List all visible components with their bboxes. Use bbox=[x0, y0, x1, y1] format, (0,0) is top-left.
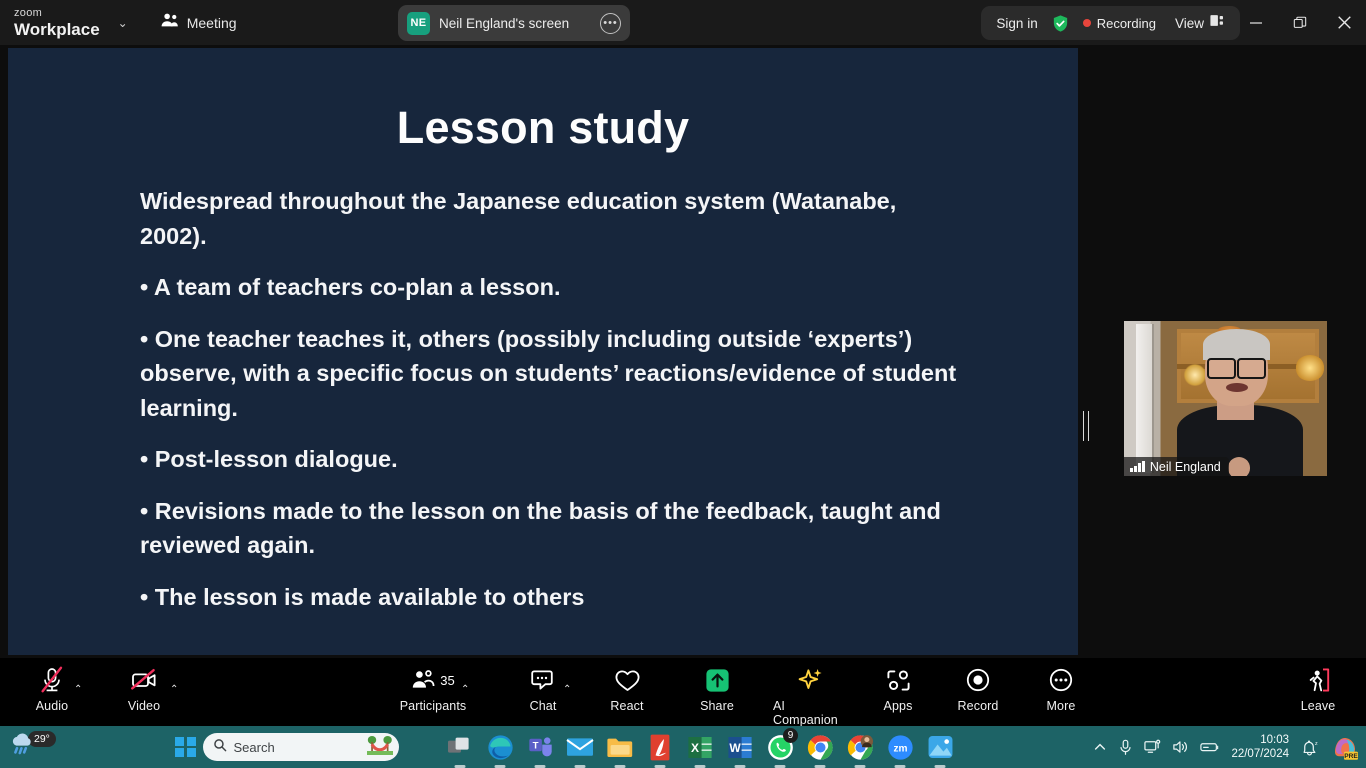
search-icon bbox=[213, 738, 227, 757]
word-icon[interactable]: W bbox=[725, 732, 755, 762]
video-person-glasses bbox=[1207, 358, 1266, 375]
svg-text:zm: zm bbox=[893, 743, 907, 754]
toolbar-label-share: Share bbox=[700, 699, 734, 713]
toolbar-button-leave[interactable]: Leave bbox=[1280, 664, 1356, 713]
svg-text:W: W bbox=[729, 741, 741, 755]
taskbar-clock[interactable]: 10:03 22/07/2024 bbox=[1231, 733, 1289, 762]
excel-icon[interactable]: X bbox=[685, 732, 715, 762]
shared-screen-label: Neil England's screen bbox=[439, 16, 591, 31]
shared-screen-stage: Lesson study Widespread throughout the J… bbox=[0, 45, 1366, 658]
whatsapp-icon[interactable]: 9 bbox=[765, 732, 795, 762]
chat-bubble-icon bbox=[530, 664, 556, 696]
slide-bullet: • One teacher teaches it, others (possib… bbox=[140, 322, 960, 426]
self-video-thumbnail[interactable]: Neil England bbox=[1124, 321, 1327, 476]
zoom-title-bar: zoom Workplace ⌄ Meeting NE Neil England… bbox=[0, 0, 1366, 45]
weather-widget[interactable]: 29° bbox=[8, 729, 56, 759]
chrome-icon[interactable] bbox=[805, 732, 835, 762]
recording-dot-icon bbox=[1083, 19, 1091, 27]
toolbar-button-ai-companion[interactable]: AI Companion bbox=[773, 664, 849, 727]
shared-screen-tab[interactable]: NE Neil England's screen ••• bbox=[398, 5, 630, 41]
video-door bbox=[1136, 324, 1154, 473]
rain-cloud-icon bbox=[8, 729, 38, 759]
toolbar-button-react[interactable]: React bbox=[589, 664, 665, 713]
speaker-icon[interactable] bbox=[1172, 739, 1189, 755]
toolbar-button-participants[interactable]: 35 ⌃ Participants bbox=[395, 664, 471, 713]
participants-count: 35 bbox=[440, 673, 454, 688]
windows-start-icon[interactable] bbox=[175, 737, 196, 758]
chrome-profile-icon[interactable] bbox=[845, 732, 875, 762]
participant-name-badge: Neil England bbox=[1124, 457, 1229, 476]
view-label: View bbox=[1175, 16, 1204, 31]
slide-title: Lesson study bbox=[8, 102, 1078, 154]
chevron-up-icon[interactable] bbox=[1093, 740, 1107, 754]
edge-icon[interactable] bbox=[485, 732, 515, 762]
close-icon[interactable] bbox=[1322, 0, 1366, 45]
chevron-down-icon[interactable]: ⌄ bbox=[118, 16, 128, 30]
toolbar-button-record[interactable]: Record bbox=[940, 664, 1016, 713]
pdf-icon[interactable] bbox=[645, 732, 675, 762]
svg-text:T: T bbox=[532, 741, 538, 752]
participant-name: Neil England bbox=[1150, 460, 1221, 474]
toolbar-button-chat[interactable]: ⌃ Chat bbox=[505, 664, 581, 713]
slide-body: Widespread throughout the Japanese educa… bbox=[8, 184, 1078, 614]
chat-options-chevron-icon[interactable]: ⌃ bbox=[563, 684, 571, 695]
system-tray: 10:03 22/07/2024 z PRE bbox=[1093, 726, 1360, 768]
toolbar-label-react: React bbox=[610, 699, 643, 713]
heart-icon bbox=[614, 664, 641, 696]
toolbar-label-apps: Apps bbox=[884, 699, 913, 713]
toolbar-label-leave: Leave bbox=[1301, 699, 1336, 713]
share-screen-icon bbox=[704, 664, 731, 696]
video-person-hand bbox=[1228, 457, 1250, 476]
hammock-icon bbox=[367, 734, 393, 761]
toolbar-button-audio[interactable]: ⌃ Audio bbox=[14, 664, 90, 713]
task-view-icon[interactable] bbox=[445, 732, 475, 762]
sign-in-button[interactable]: Sign in bbox=[996, 16, 1037, 31]
copilot-pre-icon[interactable]: PRE bbox=[1330, 732, 1360, 762]
shield-check-icon[interactable] bbox=[1051, 14, 1070, 33]
svg-text:z: z bbox=[1315, 740, 1318, 746]
camera-off-icon bbox=[129, 664, 159, 696]
taskbar-app-icons: T bbox=[445, 726, 955, 768]
brand-workplace-text: Workplace bbox=[14, 21, 100, 38]
display-icon[interactable] bbox=[1144, 739, 1161, 755]
search-placeholder: Search bbox=[234, 740, 360, 755]
search-input[interactable]: Search bbox=[203, 733, 399, 761]
record-icon bbox=[965, 664, 991, 696]
slide-bullet: • Revisions made to the lesson on the ba… bbox=[140, 494, 960, 563]
sparkle-icon bbox=[796, 664, 826, 696]
slide-bullet: • Post-lesson dialogue. bbox=[140, 442, 960, 477]
recording-label: Recording bbox=[1097, 16, 1156, 31]
brand-zoom-text: zoom bbox=[14, 8, 100, 19]
clock-time: 10:03 bbox=[1231, 733, 1289, 747]
bell-sleep-icon[interactable]: z bbox=[1300, 738, 1319, 757]
toolbar-label-record: Record bbox=[958, 699, 999, 713]
ellipsis-icon bbox=[1048, 664, 1074, 696]
view-button[interactable]: View bbox=[1175, 14, 1225, 32]
toolbar-button-video[interactable]: ⌃ Video bbox=[106, 664, 182, 713]
minimize-icon[interactable] bbox=[1234, 0, 1278, 45]
window-controls bbox=[1234, 0, 1366, 45]
recording-indicator[interactable]: Recording bbox=[1083, 16, 1156, 31]
toolbar-label-participants: Participants bbox=[400, 699, 467, 713]
audio-options-chevron-icon[interactable]: ⌃ bbox=[74, 684, 82, 695]
mail-icon[interactable] bbox=[565, 732, 595, 762]
restore-icon[interactable] bbox=[1278, 0, 1322, 45]
ellipsis-icon[interactable]: ••• bbox=[600, 13, 621, 34]
video-options-chevron-icon[interactable]: ⌃ bbox=[170, 684, 178, 695]
leave-door-icon bbox=[1304, 664, 1332, 696]
windows-taskbar: 29° Search bbox=[0, 726, 1366, 768]
meeting-tab[interactable]: Meeting bbox=[160, 12, 237, 33]
folder-icon[interactable] bbox=[605, 732, 635, 762]
zoom-workplace-logo: zoom Workplace bbox=[14, 8, 100, 38]
microphone-muted-icon bbox=[39, 664, 65, 696]
participants-options-chevron-icon[interactable]: ⌃ bbox=[461, 684, 469, 695]
people-icon: 35 bbox=[411, 664, 454, 696]
slide-bullet: • The lesson is made available to others bbox=[140, 580, 960, 615]
toolbar-label-video: Video bbox=[128, 699, 160, 713]
toolbar-label-ai-companion: AI Companion bbox=[773, 699, 849, 727]
toolbar-label-more: More bbox=[1047, 699, 1076, 713]
toolbar-button-apps[interactable]: Apps bbox=[860, 664, 936, 713]
slide-paragraph: Widespread throughout the Japanese educa… bbox=[140, 184, 960, 253]
clock-date: 22/07/2024 bbox=[1231, 747, 1289, 761]
whatsapp-badge-count: 9 bbox=[783, 728, 798, 743]
people-icon bbox=[160, 12, 179, 33]
layout-icon bbox=[1210, 14, 1225, 32]
toolbar-label-audio: Audio bbox=[36, 699, 68, 713]
slide-bullet: • A team of teachers co-plan a lesson. bbox=[140, 270, 960, 305]
title-bar-actions: Sign in Recording View bbox=[981, 6, 1240, 40]
toolbar-button-more[interactable]: More bbox=[1023, 664, 1099, 713]
svg-text:X: X bbox=[691, 741, 699, 755]
teams-icon[interactable]: T bbox=[525, 732, 555, 762]
microphone-icon[interactable] bbox=[1118, 739, 1133, 756]
video-person-hair bbox=[1203, 329, 1270, 360]
zoom-icon[interactable]: zm bbox=[885, 732, 915, 762]
photos-icon[interactable] bbox=[925, 732, 955, 762]
apps-icon bbox=[885, 664, 912, 696]
avatar: NE bbox=[407, 12, 430, 35]
toolbar-button-share[interactable]: Share bbox=[679, 664, 755, 713]
zoom-meeting-window: zoom Workplace ⌄ Meeting NE Neil England… bbox=[0, 0, 1366, 768]
presentation-slide: Lesson study Widespread throughout the J… bbox=[8, 48, 1078, 655]
battery-icon[interactable] bbox=[1200, 740, 1220, 754]
video-panel-drag-handle[interactable] bbox=[1083, 411, 1089, 441]
copilot-badge-text: PRE bbox=[1344, 753, 1358, 760]
signal-bars-icon bbox=[1130, 461, 1145, 472]
meeting-tab-label: Meeting bbox=[187, 15, 237, 31]
zoom-meeting-toolbar: ⌃ Audio ⌃ Video bbox=[0, 658, 1366, 726]
toolbar-label-chat: Chat bbox=[530, 699, 557, 713]
taskbar-center: Search bbox=[175, 726, 399, 768]
